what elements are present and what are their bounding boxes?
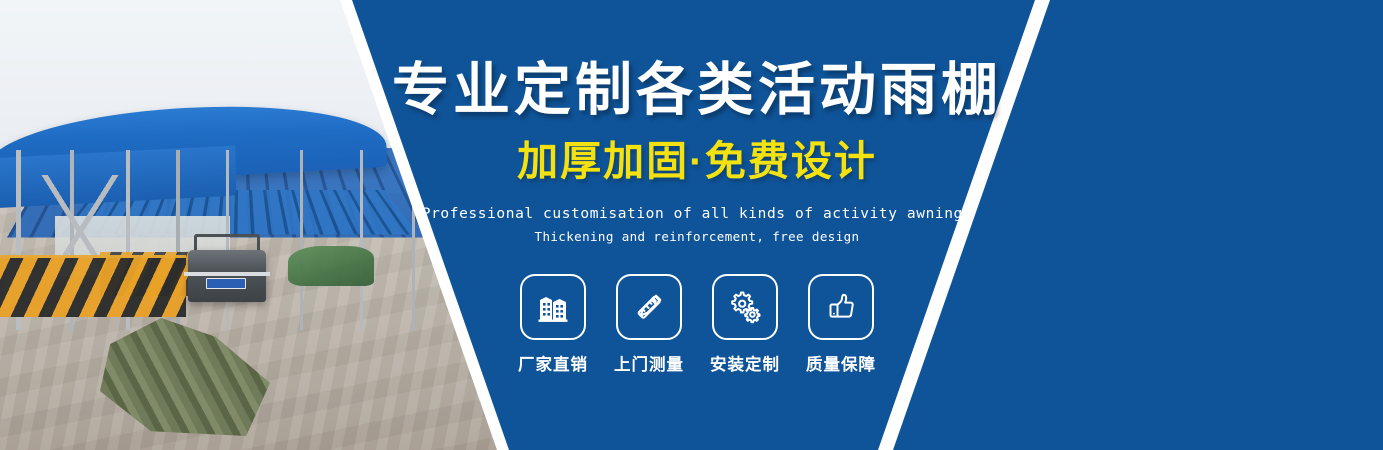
banner-content: 专业定制各类活动雨棚 加厚加固·免费设计 Professional custom… bbox=[352, 0, 1042, 450]
truck-bumper bbox=[184, 272, 270, 276]
feature-icon-box bbox=[520, 274, 586, 340]
building-icon bbox=[536, 290, 570, 324]
subtitle: 加厚加固·免费设计 bbox=[517, 141, 877, 182]
page-title: 专业定制各类活动雨棚 bbox=[392, 62, 1002, 119]
feature-label: 质量保障 bbox=[806, 351, 876, 375]
feature-item-onsite-measure[interactable]: 上门测量 bbox=[614, 274, 684, 375]
promo-banner: 专业定制各类活动雨棚 加厚加固·免费设计 Professional custom… bbox=[0, 0, 1383, 450]
feature-label: 上门测量 bbox=[614, 351, 684, 375]
feature-label: 厂家直销 bbox=[518, 351, 588, 375]
feature-item-quality-guarantee[interactable]: 质量保障 bbox=[806, 274, 876, 375]
thumbs-up-icon bbox=[823, 289, 859, 325]
left-photo-truck bbox=[182, 232, 272, 310]
truck-license-plate bbox=[206, 278, 246, 289]
feature-list: 厂家直销 bbox=[518, 274, 876, 375]
english-tagline-primary: Professional customisation of all kinds … bbox=[422, 206, 972, 222]
feature-icon-box bbox=[616, 274, 682, 340]
left-photo-barrier bbox=[0, 255, 186, 317]
feature-icon-box bbox=[808, 274, 874, 340]
english-tagline-secondary: Thickening and reinforcement, free desig… bbox=[535, 229, 860, 244]
feature-icon-box bbox=[712, 274, 778, 340]
truck-body bbox=[188, 250, 266, 302]
feature-item-factory-direct[interactable]: 厂家直销 bbox=[518, 274, 588, 375]
feature-item-install-custom[interactable]: 安装定制 bbox=[710, 274, 780, 375]
gears-icon bbox=[727, 289, 763, 325]
feature-label: 安装定制 bbox=[710, 351, 780, 375]
pencil-ruler-icon bbox=[631, 289, 667, 325]
